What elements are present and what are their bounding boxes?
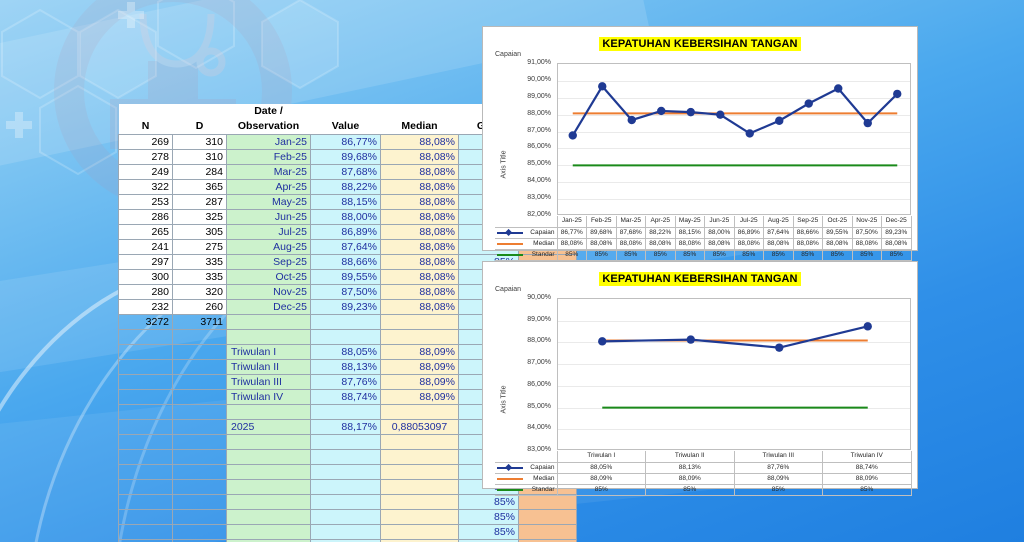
cell-n[interactable] <box>119 465 173 480</box>
cell-value[interactable] <box>311 450 381 465</box>
cell-d[interactable] <box>173 360 227 375</box>
cell-d[interactable]: 287 <box>173 195 227 210</box>
cell-value[interactable]: 89,55% <box>311 270 381 285</box>
cell-observation[interactable] <box>227 315 311 330</box>
legend-line-swatch <box>497 478 523 480</box>
chart-table-cell: 85% <box>675 249 705 260</box>
cell-median[interactable]: 88,08% <box>381 210 459 225</box>
cell-value[interactable]: 88,22% <box>311 180 381 195</box>
cell-median[interactable]: 0,88053097 <box>381 420 459 435</box>
cell-value[interactable] <box>311 330 381 345</box>
cell-n[interactable] <box>119 480 173 495</box>
cell-n[interactable] <box>119 510 173 525</box>
chart-table-cell: 86,77% <box>557 227 587 238</box>
legend-line-swatch <box>497 489 523 491</box>
chart-table-cell: 85% <box>734 484 823 495</box>
chart-table-cell: 88,13% <box>646 462 735 473</box>
cell-median[interactable] <box>381 330 459 345</box>
cell-median[interactable]: 88,08% <box>381 225 459 240</box>
legend-label: Median <box>533 475 554 482</box>
cell-n[interactable]: 278 <box>119 150 173 165</box>
chart-table-cell: 88,08% <box>616 238 646 249</box>
y-axis-tick-label: 91,00% <box>505 59 551 66</box>
cell-n[interactable]: 300 <box>119 270 173 285</box>
chart-table-category-header: Dec-25 <box>882 216 912 227</box>
cell-observation[interactable]: Triwulan II <box>227 360 311 375</box>
chart-table-cell: 88,09% <box>646 473 735 484</box>
cell-n[interactable] <box>119 360 173 375</box>
y-axis-tick-label: 87,00% <box>505 359 551 366</box>
cell-n[interactable] <box>119 525 173 540</box>
cell-observation[interactable] <box>227 450 311 465</box>
table-row[interactable]: 85% <box>119 510 577 525</box>
cell-value[interactable] <box>311 495 381 510</box>
cell-n[interactable]: 286 <box>119 210 173 225</box>
legend-label: Standar <box>532 251 555 258</box>
chart-table-cell: 88,08% <box>734 238 764 249</box>
cell-observation[interactable] <box>227 330 311 345</box>
chart-table-category-header: Jul-25 <box>734 216 764 227</box>
chart-table-cell: 85% <box>734 249 764 260</box>
chart-table-cell: 88,08% <box>557 238 587 249</box>
data-point-marker <box>687 335 695 343</box>
column-header-n: N <box>119 119 173 135</box>
cell-median[interactable] <box>381 510 459 525</box>
cell-d[interactable] <box>173 330 227 345</box>
chart-table-cell: 86,89% <box>734 227 764 238</box>
chart-table-cell: 88,09% <box>734 473 823 484</box>
chart-table-cell: 85% <box>616 249 646 260</box>
chart-table-series-row[interactable]: Standar85%85%85%85%85%85%85%85%85%85%85%… <box>495 249 911 260</box>
chart-table-cell: 87,76% <box>734 462 823 473</box>
y-axis-tick-label: 90,00% <box>505 294 551 301</box>
chart-table-category-header: Triwulan II <box>646 451 735 462</box>
y-axis-tick-label: 85,00% <box>505 160 551 167</box>
legend-line-swatch <box>497 254 523 256</box>
chart-table-category-header: Mar-25 <box>616 216 646 227</box>
cell-d[interactable] <box>173 525 227 540</box>
chart-table-category-header: Jan-25 <box>557 216 587 227</box>
data-point-marker <box>864 322 872 330</box>
y-axis-tick-label: 88,00% <box>505 110 551 117</box>
cell-median[interactable] <box>381 435 459 450</box>
plot-area-quarterly <box>557 298 911 450</box>
chart-title-text: KEPATUHAN KEBERSIHAN TANGAN <box>599 37 800 51</box>
cell-n[interactable] <box>119 405 173 420</box>
chart-table-cell: 88,08% <box>705 238 735 249</box>
chart-table-cell: 87,50% <box>852 227 882 238</box>
cell-value[interactable]: 89,68% <box>311 150 381 165</box>
cell-n[interactable] <box>119 345 173 360</box>
cell-median[interactable]: 88,08% <box>381 165 459 180</box>
legend-entry-capaian[interactable]: Capaian <box>495 462 557 473</box>
cell-d[interactable] <box>173 345 227 360</box>
cell-observation[interactable]: Oct-25 <box>227 270 311 285</box>
header-n-blank <box>119 104 173 119</box>
cell-value[interactable]: 87,50% <box>311 285 381 300</box>
column-header-observation-line2: Observation <box>227 119 311 135</box>
chart-table-cell: 88,74% <box>823 462 912 473</box>
cell-median[interactable]: 88,08% <box>381 255 459 270</box>
cell-observation[interactable]: Triwulan IV <box>227 390 311 405</box>
header-d-blank <box>173 104 227 119</box>
cell-d[interactable] <box>173 495 227 510</box>
cell-value[interactable]: 88,05% <box>311 345 381 360</box>
plus-icon <box>118 2 144 28</box>
cell-median[interactable] <box>381 495 459 510</box>
chart-table-category-header: Sep-25 <box>793 216 823 227</box>
chart-table-cell: 88,05% <box>557 462 646 473</box>
cell-value[interactable]: 87,68% <box>311 165 381 180</box>
series-line <box>602 326 868 347</box>
chart-table-cell: 85% <box>852 249 882 260</box>
y-axis-tick-label: 89,00% <box>505 316 551 323</box>
cell-n[interactable]: 249 <box>119 165 173 180</box>
chart-table-category-header: Jun-25 <box>705 216 735 227</box>
y-axis-tick-label: 88,00% <box>505 337 551 344</box>
chart-table-cell: 87,64% <box>764 227 794 238</box>
y-axis-tick-label: 85,00% <box>505 403 551 410</box>
cell-observation[interactable]: Mar-25 <box>227 165 311 180</box>
cell-observation[interactable]: May-25 <box>227 195 311 210</box>
cell-n[interactable] <box>119 435 173 450</box>
cell-observation[interactable]: Jun-25 <box>227 210 311 225</box>
cell-observation[interactable]: Nov-25 <box>227 285 311 300</box>
cell-d[interactable]: 365 <box>173 180 227 195</box>
chart-table-category-header: Nov-25 <box>852 216 882 227</box>
cell-value[interactable]: 88,74% <box>311 390 381 405</box>
cell-median[interactable]: 88,09% <box>381 360 459 375</box>
cell-value[interactable]: 88,13% <box>311 360 381 375</box>
data-point-marker <box>775 117 783 125</box>
cell-observation[interactable]: Triwulan I <box>227 345 311 360</box>
cell-n[interactable] <box>119 375 173 390</box>
cell-observation[interactable]: Jan-25 <box>227 135 311 150</box>
chart-table-cell: 88,08% <box>646 238 676 249</box>
chart-title-quarterly: KEPATUHAN KEBERSIHAN TANGAN <box>483 269 917 287</box>
cell-median[interactable]: 88,08% <box>381 180 459 195</box>
legend-label: Median <box>533 240 554 247</box>
cell-n[interactable] <box>119 330 173 345</box>
cell-value[interactable] <box>311 510 381 525</box>
chart-table-cell: 88,08% <box>852 238 882 249</box>
cell-d[interactable] <box>173 465 227 480</box>
chart-table-cell: 85% <box>557 249 587 260</box>
chart-table-cell: 88,08% <box>587 238 617 249</box>
cell-end-median[interactable] <box>519 525 577 540</box>
cell-observation[interactable]: Feb-25 <box>227 150 311 165</box>
cell-n[interactable]: 241 <box>119 240 173 255</box>
legend-label: Capaian <box>530 229 554 236</box>
cell-median[interactable] <box>381 525 459 540</box>
cell-n[interactable] <box>119 420 173 435</box>
chart-table-cell: 89,55% <box>823 227 853 238</box>
cell-d[interactable]: 335 <box>173 270 227 285</box>
chart-table-cell: 85% <box>557 484 646 495</box>
chart-table-series-row[interactable]: Median88,09%88,09%88,09%88,09% <box>495 473 911 484</box>
data-point-marker <box>893 90 901 98</box>
table-row[interactable]: 85% <box>119 495 577 510</box>
chart-table-cell: 88,08% <box>882 238 912 249</box>
cell-d[interactable]: 275 <box>173 240 227 255</box>
header-value-blank <box>311 104 381 119</box>
legend-label: Standar <box>532 486 555 493</box>
legend-marker-icon <box>505 229 512 236</box>
cell-d[interactable]: 310 <box>173 135 227 150</box>
chart-table-cell: 88,15% <box>675 227 705 238</box>
chart-table-cell: 88,08% <box>764 238 794 249</box>
chart-panel-quarterly[interactable]: KEPATUHAN KEBERSIHAN TANGAN Capaian Axis… <box>482 261 918 489</box>
chart-title-text: KEPATUHAN KEBERSIHAN TANGAN <box>599 272 800 286</box>
cell-value[interactable] <box>311 315 381 330</box>
legend-entry-median[interactable]: Median <box>495 238 557 249</box>
cell-median[interactable]: 88,08% <box>381 285 459 300</box>
chart-table-category-header: Feb-25 <box>587 216 617 227</box>
cell-observation[interactable]: Aug-25 <box>227 240 311 255</box>
cell-d[interactable] <box>173 405 227 420</box>
cell-d[interactable] <box>173 435 227 450</box>
data-point-marker <box>569 131 577 139</box>
cell-median[interactable]: 88,09% <box>381 345 459 360</box>
cell-median[interactable]: 88,09% <box>381 375 459 390</box>
cell-goal[interactable]: 85% <box>459 525 519 540</box>
chart-table-series-row[interactable]: Standar85%85%85%85% <box>495 484 911 495</box>
data-point-marker <box>716 110 724 118</box>
cell-observation[interactable]: 2025 <box>227 420 311 435</box>
chart-table-cell: 88,08% <box>823 238 853 249</box>
cell-median[interactable]: 88,08% <box>381 150 459 165</box>
chart-table-cell: 85% <box>823 484 912 495</box>
legend-label: Capaian <box>530 464 554 471</box>
table-row[interactable]: 85% <box>119 525 577 540</box>
cell-d[interactable]: 320 <box>173 285 227 300</box>
chart-table-cell: 88,22% <box>646 227 676 238</box>
chart-table-category-header: Triwulan IV <box>823 451 912 462</box>
cell-value[interactable]: 88,15% <box>311 195 381 210</box>
cell-d[interactable] <box>173 375 227 390</box>
cell-end-median[interactable] <box>519 495 577 510</box>
cell-observation[interactable]: Dec-25 <box>227 300 311 315</box>
cell-value[interactable]: 86,77% <box>311 135 381 150</box>
cell-d[interactable] <box>173 450 227 465</box>
chart-table-cell: 89,68% <box>587 227 617 238</box>
cell-observation[interactable] <box>227 525 311 540</box>
cell-value[interactable] <box>311 480 381 495</box>
chart-table-cell: 87,68% <box>616 227 646 238</box>
data-point-marker <box>598 337 606 345</box>
column-header-value: Value <box>311 119 381 135</box>
column-header-observation-line1: Date / <box>227 104 311 119</box>
y-axis-tick-label: 84,00% <box>505 424 551 431</box>
cell-median[interactable] <box>381 450 459 465</box>
chart-table-cell: 89,23% <box>882 227 912 238</box>
cell-n[interactable] <box>119 450 173 465</box>
chart-table-cell: 88,08% <box>793 238 823 249</box>
data-point-marker <box>746 129 754 137</box>
y-axis-tick-label: 87,00% <box>505 127 551 134</box>
header-median-blank <box>381 104 459 119</box>
cell-n[interactable] <box>119 390 173 405</box>
data-point-marker <box>598 82 606 90</box>
chart-table-header-row: Triwulan ITriwulan IITriwulan IIITriwula… <box>495 451 911 462</box>
cell-d[interactable]: 305 <box>173 225 227 240</box>
legend-entry-standar[interactable]: Standar <box>495 249 557 260</box>
cell-observation[interactable]: Jul-25 <box>227 225 311 240</box>
cell-d[interactable] <box>173 510 227 525</box>
chart-table-cell: 85% <box>793 249 823 260</box>
chart-table-cell: 85% <box>646 249 676 260</box>
cell-median[interactable]: 88,08% <box>381 195 459 210</box>
cell-value[interactable]: 88,17% <box>311 420 381 435</box>
chart-title-monthly: KEPATUHAN KEBERSIHAN TANGAN <box>483 34 917 52</box>
cell-d[interactable] <box>173 420 227 435</box>
chart-table-cell: 88,00% <box>705 227 735 238</box>
legend-entry-median[interactable]: Median <box>495 473 557 484</box>
data-point-marker <box>864 119 872 127</box>
cell-n[interactable]: 297 <box>119 255 173 270</box>
cell-d[interactable]: 335 <box>173 255 227 270</box>
data-point-marker <box>834 84 842 92</box>
cell-value[interactable]: 88,66% <box>311 255 381 270</box>
cell-d[interactable]: 260 <box>173 300 227 315</box>
y-axis-tick-label: 90,00% <box>505 76 551 83</box>
y-axis-tick-label: 84,00% <box>505 177 551 184</box>
data-point-marker <box>687 108 695 116</box>
cell-n[interactable]: 269 <box>119 135 173 150</box>
data-point-marker <box>657 107 665 115</box>
column-header-median: Median <box>381 119 459 135</box>
data-point-marker <box>775 343 783 351</box>
cell-d[interactable]: 310 <box>173 150 227 165</box>
cell-d[interactable]: 284 <box>173 165 227 180</box>
cell-goal[interactable]: 85% <box>459 510 519 525</box>
chart-panel-monthly[interactable]: KEPATUHAN KEBERSIHAN TANGAN Capaian Axis… <box>482 26 918 251</box>
cell-median[interactable]: 88,08% <box>381 300 459 315</box>
cell-value[interactable]: 86,89% <box>311 225 381 240</box>
plot-area-monthly <box>557 63 911 215</box>
cell-observation[interactable]: Sep-25 <box>227 255 311 270</box>
chart-table-header-row: Jan-25Feb-25Mar-25Apr-25May-25Jun-25Jul-… <box>495 216 911 227</box>
chart-data-table-quarterly[interactable]: Triwulan ITriwulan IITriwulan IIITriwula… <box>495 451 912 496</box>
chart-table-cell: 85% <box>705 249 735 260</box>
chart-table-cell: 85% <box>823 249 853 260</box>
cell-observation[interactable]: Triwulan III <box>227 375 311 390</box>
chart-table-cell: 88,66% <box>793 227 823 238</box>
cell-median[interactable] <box>381 480 459 495</box>
chart-table-category-header: Triwulan I <box>557 451 646 462</box>
chart-table-series-row[interactable]: Median88,08%88,08%88,08%88,08%88,08%88,0… <box>495 238 911 249</box>
cell-n[interactable]: 322 <box>119 180 173 195</box>
chart-table-category-header: May-25 <box>675 216 705 227</box>
chart-series-layer <box>558 299 911 450</box>
legend-entry-capaian[interactable]: Capaian <box>495 227 557 238</box>
chart-table-cell: 85% <box>587 249 617 260</box>
cell-median[interactable]: 88,08% <box>381 135 459 150</box>
cell-value[interactable]: 88,00% <box>311 210 381 225</box>
chart-table-cell: 85% <box>882 249 912 260</box>
cell-total-n[interactable]: 3272 <box>119 315 173 330</box>
cell-total-d[interactable]: 3711 <box>173 315 227 330</box>
cell-value[interactable]: 89,23% <box>311 300 381 315</box>
chart-table-cell: 88,09% <box>557 473 646 484</box>
cell-d[interactable]: 325 <box>173 210 227 225</box>
cell-n[interactable]: 280 <box>119 285 173 300</box>
cell-observation[interactable] <box>227 495 311 510</box>
y-axis-tick-label: 83,00% <box>505 194 551 201</box>
chart-table-series-row[interactable]: Capaian86,77%89,68%87,68%88,22%88,15%88,… <box>495 227 911 238</box>
chart-table-category-header: Oct-25 <box>823 216 853 227</box>
chart-series-layer <box>558 64 911 215</box>
chart-table-cell: 88,09% <box>823 473 912 484</box>
cell-value[interactable] <box>311 405 381 420</box>
cell-observation[interactable] <box>227 435 311 450</box>
cell-observation[interactable] <box>227 405 311 420</box>
cell-end-median[interactable] <box>519 510 577 525</box>
column-header-d: D <box>173 119 227 135</box>
chart-table-corner <box>495 216 557 227</box>
chart-corner-label-quarterly: Capaian <box>495 286 521 293</box>
chart-data-table-monthly[interactable]: Jan-25Feb-25Mar-25Apr-25May-25Jun-25Jul-… <box>495 216 912 261</box>
chart-table-category-header: Triwulan III <box>734 451 823 462</box>
cell-observation[interactable] <box>227 465 311 480</box>
cell-observation[interactable]: Apr-25 <box>227 180 311 195</box>
chart-table-category-header: Apr-25 <box>646 216 676 227</box>
chart-table-series-row[interactable]: Capaian88,05%88,13%87,76%88,74% <box>495 462 911 473</box>
cell-median[interactable]: 88,08% <box>381 270 459 285</box>
cell-observation[interactable] <box>227 480 311 495</box>
y-axis-tick-label: 86,00% <box>505 381 551 388</box>
chart-table-cell: 85% <box>646 484 735 495</box>
legend-line-swatch <box>497 243 523 245</box>
chart-corner-label-monthly: Capaian <box>495 51 521 58</box>
chart-table-category-header: Aug-25 <box>764 216 794 227</box>
cell-median[interactable] <box>381 315 459 330</box>
legend-marker-icon <box>505 464 512 471</box>
legend-entry-standar[interactable]: Standar <box>495 484 557 495</box>
chart-table-cell: 88,08% <box>675 238 705 249</box>
y-axis-tick-label: 86,00% <box>505 143 551 150</box>
cell-goal[interactable]: 85% <box>459 495 519 510</box>
plus-icon <box>6 112 24 130</box>
series-line <box>573 86 898 135</box>
cell-value[interactable] <box>311 525 381 540</box>
cell-n[interactable]: 253 <box>119 195 173 210</box>
cell-value[interactable]: 87,64% <box>311 240 381 255</box>
cell-n[interactable] <box>119 495 173 510</box>
data-point-marker <box>628 116 636 124</box>
cell-value[interactable] <box>311 435 381 450</box>
cell-value[interactable] <box>311 465 381 480</box>
cell-median[interactable]: 88,08% <box>381 240 459 255</box>
cell-d[interactable] <box>173 480 227 495</box>
cell-value[interactable]: 87,76% <box>311 375 381 390</box>
data-point-marker <box>805 99 813 107</box>
chart-table-corner <box>495 451 557 462</box>
cell-n[interactable]: 265 <box>119 225 173 240</box>
cell-d[interactable] <box>173 390 227 405</box>
cell-median[interactable] <box>381 405 459 420</box>
cell-median[interactable] <box>381 465 459 480</box>
cell-n[interactable]: 232 <box>119 300 173 315</box>
y-axis-tick-label: 89,00% <box>505 93 551 100</box>
chart-table-cell: 85% <box>764 249 794 260</box>
cell-observation[interactable] <box>227 510 311 525</box>
cell-median[interactable]: 88,09% <box>381 390 459 405</box>
